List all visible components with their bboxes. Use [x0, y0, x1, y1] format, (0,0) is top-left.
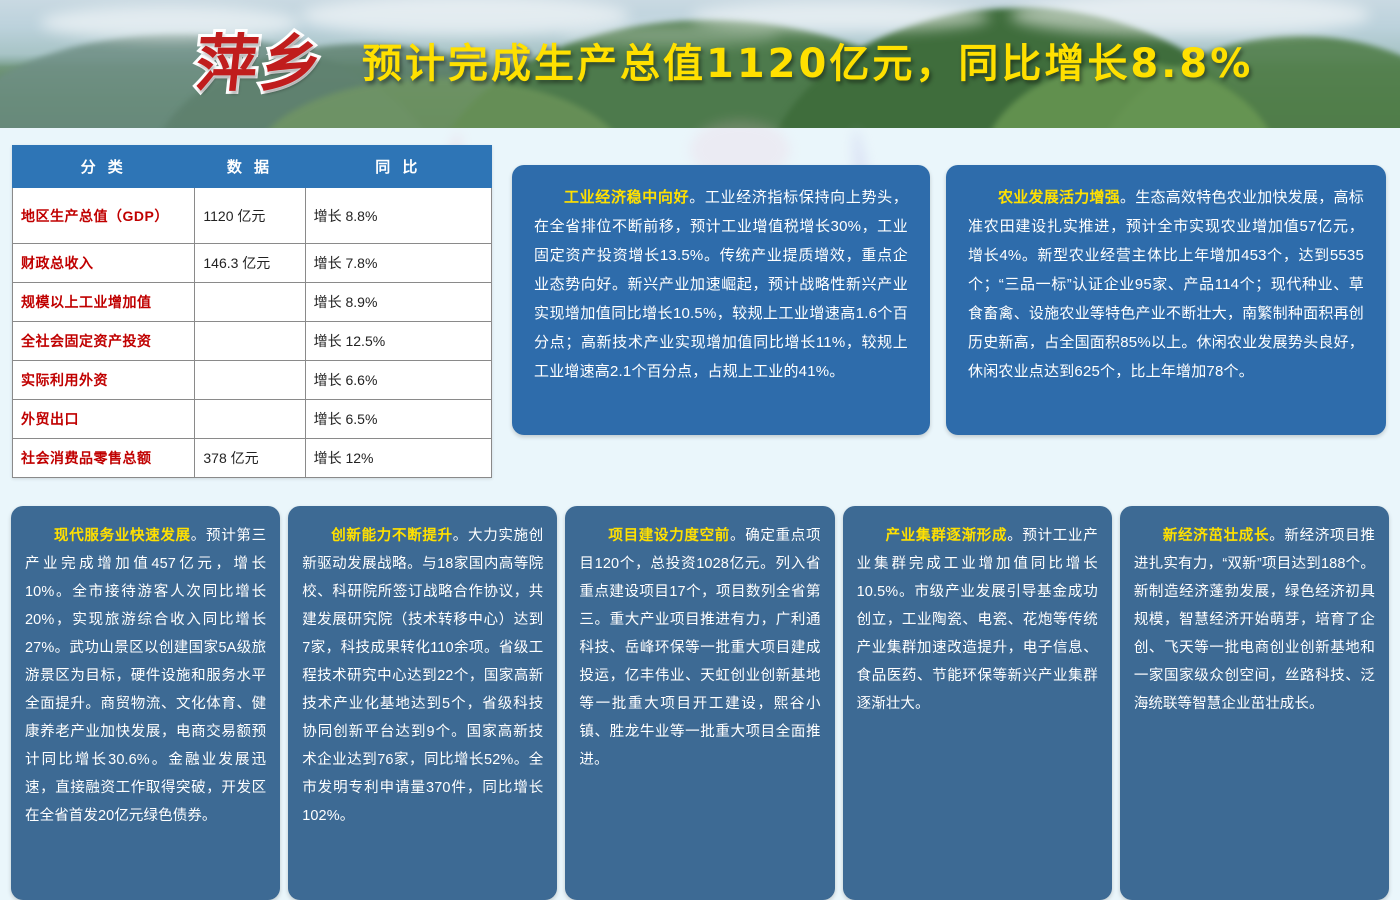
cell-yoy: 增长 12.5% — [305, 322, 491, 361]
cell-data: 1120 亿元 — [195, 188, 305, 244]
cell-yoy: 增长 8.9% — [305, 283, 491, 322]
cell-data — [195, 322, 305, 361]
table-row: 地区生产总值（GDP） 1120 亿元 增长 8.8% — [13, 188, 492, 244]
card-title: 创新能力不断提升 — [331, 528, 453, 544]
card-body: 。预计第三产业完成增加值457亿元，增长10%。全市接待游客人次同比增长20%，… — [25, 528, 266, 824]
card-innovation: 创新能力不断提升。大力实施创新驱动发展战略。与18家国内高等院校、科研院所签订战… — [288, 506, 557, 900]
cell-data: 378 亿元 — [195, 439, 305, 478]
cell-data — [195, 283, 305, 322]
table-row: 规模以上工业增加值 增长 8.9% — [13, 283, 492, 322]
card-industrial-cluster: 产业集群逐渐形成。预计工业产业集群完成工业增加值同比增长10.5%。市级产业发展… — [843, 506, 1112, 900]
cell-category: 社会消费品零售总额 — [13, 439, 195, 478]
cell-category: 全社会固定资产投资 — [13, 322, 195, 361]
card-body: 。大力实施创新驱动发展战略。与18家国内高等院校、科研院所签订战略合作协议，共建… — [302, 528, 543, 824]
table-row: 实际利用外资 增长 6.6% — [13, 361, 492, 400]
table-row: 全社会固定资产投资 增长 12.5% — [13, 322, 492, 361]
cell-yoy: 增长 6.6% — [305, 361, 491, 400]
cell-yoy: 增长 8.8% — [305, 188, 491, 244]
card-title: 产业集群逐渐形成 — [886, 528, 1008, 544]
card-body: 。确定重点项目120个，总投资1028亿元。列入省重点建设项目17个，项目数列全… — [579, 528, 820, 768]
panel-body: 。工业经济指标保持向上势头，在全省排位不断前移，预计工业增值税增长30%，工业固… — [534, 189, 908, 380]
panel-body: 。生态高效特色农业加快发展，高标准农田建设扎实推进，预计全市实现农业增加值57亿… — [968, 189, 1364, 380]
card-new-economy: 新经济茁壮成长。新经济项目推进扎实有力，“双新”项目达到188个。新制造经济蓬勃… — [1120, 506, 1389, 900]
cell-data — [195, 361, 305, 400]
cell-data — [195, 400, 305, 439]
card-text: 现代服务业快速发展。预计第三产业完成增加值457亿元，增长10%。全市接待游客人… — [25, 522, 266, 830]
cell-category: 规模以上工业增加值 — [13, 283, 195, 322]
panel-agriculture: 农业发展活力增强。生态高效特色农业加快发展，高标准农田建设扎实推进，预计全市实现… — [946, 165, 1386, 435]
upper-section: 分 类 数 据 同 比 地区生产总值（GDP） 1120 亿元 增长 8.8% … — [0, 128, 1400, 488]
card-text: 新经济茁壮成长。新经济项目推进扎实有力，“双新”项目达到188个。新制造经济蓬勃… — [1134, 522, 1375, 718]
panel-industrial-economy: 工业经济稳中向好。工业经济指标保持向上势头，在全省排位不断前移，预计工业增值税增… — [512, 165, 930, 435]
header-banner: 萍乡 预计完成生产总值1120亿元，同比增长8.8% — [0, 0, 1400, 128]
card-project-construction: 项目建设力度空前。确定重点项目120个，总投资1028亿元。列入省重点建设项目1… — [565, 506, 834, 900]
panel-title: 农业发展活力增强 — [998, 189, 1120, 206]
card-text: 产业集群逐渐形成。预计工业产业集群完成工业增加值同比增长10.5%。市级产业发展… — [857, 522, 1098, 718]
column-header-yoy: 同 比 — [305, 146, 491, 188]
card-text: 项目建设力度空前。确定重点项目120个，总投资1028亿元。列入省重点建设项目1… — [579, 522, 820, 774]
column-header-category: 分 类 — [13, 146, 195, 188]
page-title: 预计完成生产总值1120亿元，同比增长8.8% — [362, 44, 1253, 84]
column-header-data: 数 据 — [195, 146, 305, 188]
cards-section: 现代服务业快速发展。预计第三产业完成增加值457亿元，增长10%。全市接待游客人… — [0, 506, 1400, 900]
card-body: 。预计工业产业集群完成工业增加值同比增长10.5%。市级产业发展引导基金成功创立… — [857, 528, 1098, 712]
statistics-table-wrapper: 分 类 数 据 同 比 地区生产总值（GDP） 1120 亿元 增长 8.8% … — [12, 145, 492, 478]
cell-category: 外贸出口 — [13, 400, 195, 439]
card-title: 现代服务业快速发展 — [54, 528, 191, 544]
panel-title: 工业经济稳中向好 — [564, 189, 689, 206]
card-modern-services: 现代服务业快速发展。预计第三产业完成增加值457亿元，增长10%。全市接待游客人… — [11, 506, 280, 900]
card-title: 项目建设力度空前 — [608, 528, 730, 544]
cell-data: 146.3 亿元 — [195, 244, 305, 283]
table-row: 外贸出口 增长 6.5% — [13, 400, 492, 439]
statistics-table: 分 类 数 据 同 比 地区生产总值（GDP） 1120 亿元 增长 8.8% … — [12, 145, 492, 478]
card-body: 。新经济项目推进扎实有力，“双新”项目达到188个。新制造经济蓬勃发展，绿色经济… — [1134, 528, 1375, 712]
table-row: 财政总收入 146.3 亿元 增长 7.8% — [13, 244, 492, 283]
cell-yoy: 增长 12% — [305, 439, 491, 478]
cell-yoy: 增长 6.5% — [305, 400, 491, 439]
cell-yoy: 增长 7.8% — [305, 244, 491, 283]
city-logo: 萍乡 — [193, 33, 328, 95]
table-row: 社会消费品零售总额 378 亿元 增长 12% — [13, 439, 492, 478]
card-text: 创新能力不断提升。大力实施创新驱动发展战略。与18家国内高等院校、科研院所签订战… — [302, 522, 543, 830]
cell-category: 实际利用外资 — [13, 361, 195, 400]
header-content: 萍乡 预计完成生产总值1120亿元，同比增长8.8% — [0, 0, 1400, 128]
card-title: 新经济茁壮成长 — [1163, 528, 1269, 544]
table-header-row: 分 类 数 据 同 比 — [13, 146, 492, 188]
panel-text: 农业发展活力增强。生态高效特色农业加快发展，高标准农田建设扎实推进，预计全市实现… — [968, 183, 1364, 386]
cell-category: 地区生产总值（GDP） — [13, 188, 195, 244]
cell-category: 财政总收入 — [13, 244, 195, 283]
panel-text: 工业经济稳中向好。工业经济指标保持向上势头，在全省排位不断前移，预计工业增值税增… — [534, 183, 908, 386]
